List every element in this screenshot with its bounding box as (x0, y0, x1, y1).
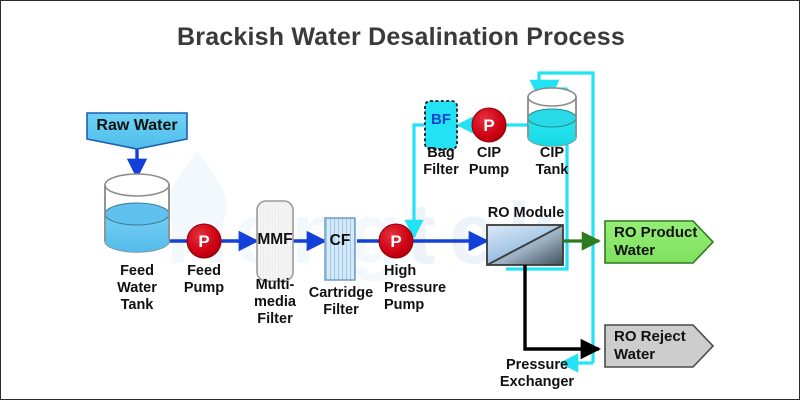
ro-module-caption: RO Module (467, 205, 585, 222)
raw-water-label: Raw Water (87, 117, 187, 135)
feed-pump-caption: Feed Pump (173, 263, 235, 297)
high-pressure-pump-symbol: P (381, 232, 411, 252)
feed-water-tank-caption: Feed Water Tank (97, 263, 177, 314)
cip-pump-caption: CIP Pump (459, 145, 519, 179)
feed-pump-symbol: P (189, 232, 219, 252)
cip-tank-rim (528, 88, 576, 106)
cip-tank-node[interactable] (528, 88, 576, 146)
ro-product-water-label: RO Product Water (614, 224, 704, 260)
cip-tank-caption: CIP Tank (523, 145, 581, 179)
feed-tank-rim (105, 174, 169, 196)
feed-tank-water-surface (105, 203, 169, 225)
feed-water-tank-node[interactable] (105, 174, 169, 252)
mmf-symbol: MMF (249, 231, 301, 249)
diagram-frame: Brackish Water Desalination Process (0, 0, 800, 400)
cip-pump-symbol: P (474, 116, 504, 136)
ro-module-node[interactable] (487, 225, 563, 265)
pressure-exchanger-caption: Pressure Exchanger (479, 357, 595, 391)
bag-filter-symbol: BF (425, 111, 457, 128)
ro-reject-water-label: RO Reject Water (614, 328, 704, 364)
cartridge-filter-caption: Cartridge Filter (303, 285, 379, 319)
cartridge-filter-symbol: CF (323, 232, 357, 250)
mmf-caption: Multi- media Filter (241, 277, 309, 328)
high-pressure-pump-caption: High Pressure Pump (384, 263, 464, 314)
cip-tank-water-surface (528, 109, 576, 127)
